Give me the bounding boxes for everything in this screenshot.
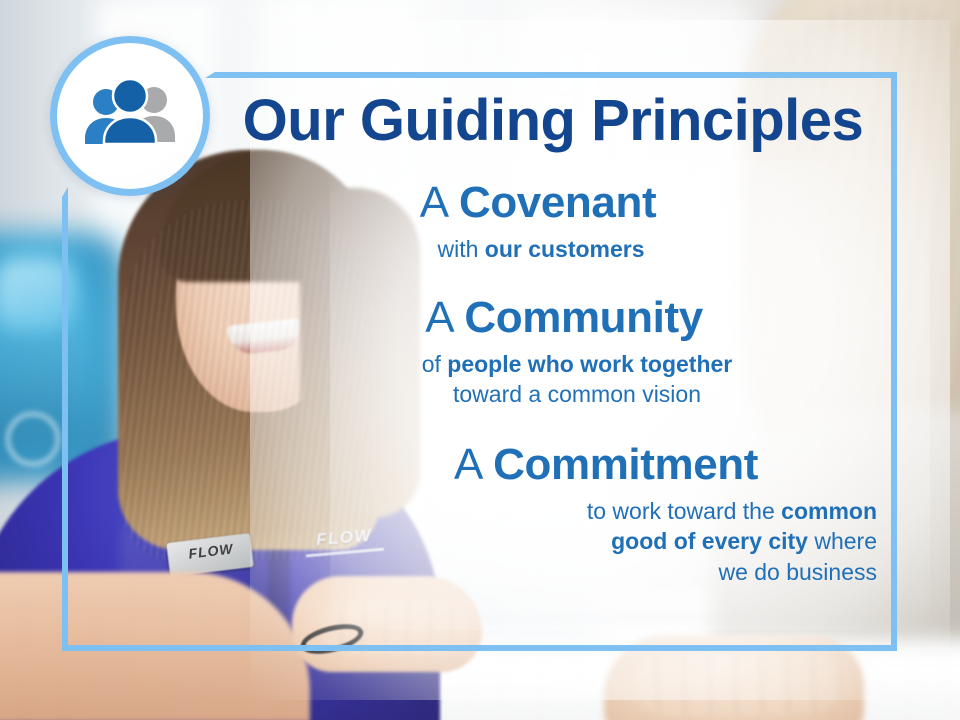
- frame-bottom-edge: [62, 645, 897, 651]
- principle-article: A: [425, 293, 452, 342]
- sub-text: where: [808, 528, 877, 554]
- principle-sub-line: to work toward the common: [215, 496, 877, 526]
- principle-community-sub-1: of people who work togethertoward a comm…: [215, 349, 905, 410]
- principle-sub-line: toward a common vision: [249, 379, 905, 409]
- sub-emphasis: our customers: [485, 236, 645, 262]
- principle-community-heading: A Community: [215, 293, 905, 342]
- principle-article: A: [420, 178, 447, 227]
- people-group-icon: [78, 78, 182, 154]
- principle-article: A: [454, 440, 481, 489]
- principle-community: A Community of people who work togethert…: [215, 293, 905, 410]
- principle-keyword: Commitment: [493, 440, 758, 489]
- sub-text: with: [437, 236, 484, 262]
- principle-sub-line: good of every city where: [215, 526, 877, 556]
- sub-emphasis: common: [781, 498, 877, 524]
- principle-covenant: A Covenant with our customers: [215, 178, 905, 265]
- principle-keyword: Covenant: [459, 178, 656, 227]
- principle-covenant-sub-1: with our customers: [215, 234, 905, 264]
- principle-sub-line: of people who work together: [249, 349, 905, 379]
- page-title: Our Guiding Principles: [215, 92, 891, 150]
- poster-root: FLOW FLOW: [0, 0, 960, 720]
- frame-top-edge: [215, 72, 897, 78]
- sub-text: toward a common vision: [453, 381, 701, 407]
- sub-text: to work toward the: [587, 498, 781, 524]
- sub-text: of: [422, 351, 448, 377]
- frame-left-edge: [62, 197, 68, 651]
- sub-text: we do business: [718, 559, 877, 585]
- sub-emphasis: good of every city: [611, 528, 808, 554]
- principle-sub-line: with our customers: [215, 234, 867, 264]
- principle-keyword: Community: [464, 293, 702, 342]
- principle-commitment-sub-1: to work toward the commongood of every c…: [215, 496, 905, 587]
- principle-commitment: A Commitment to work toward the commongo…: [215, 440, 905, 587]
- principle-sub-line: we do business: [215, 557, 877, 587]
- principles-list: A Covenant with our customers A Communit…: [215, 178, 905, 589]
- principle-commitment-heading: A Commitment: [215, 440, 905, 489]
- principle-covenant-heading: A Covenant: [215, 178, 905, 227]
- people-group-badge: [50, 36, 210, 196]
- sub-emphasis: people who work together: [447, 351, 732, 377]
